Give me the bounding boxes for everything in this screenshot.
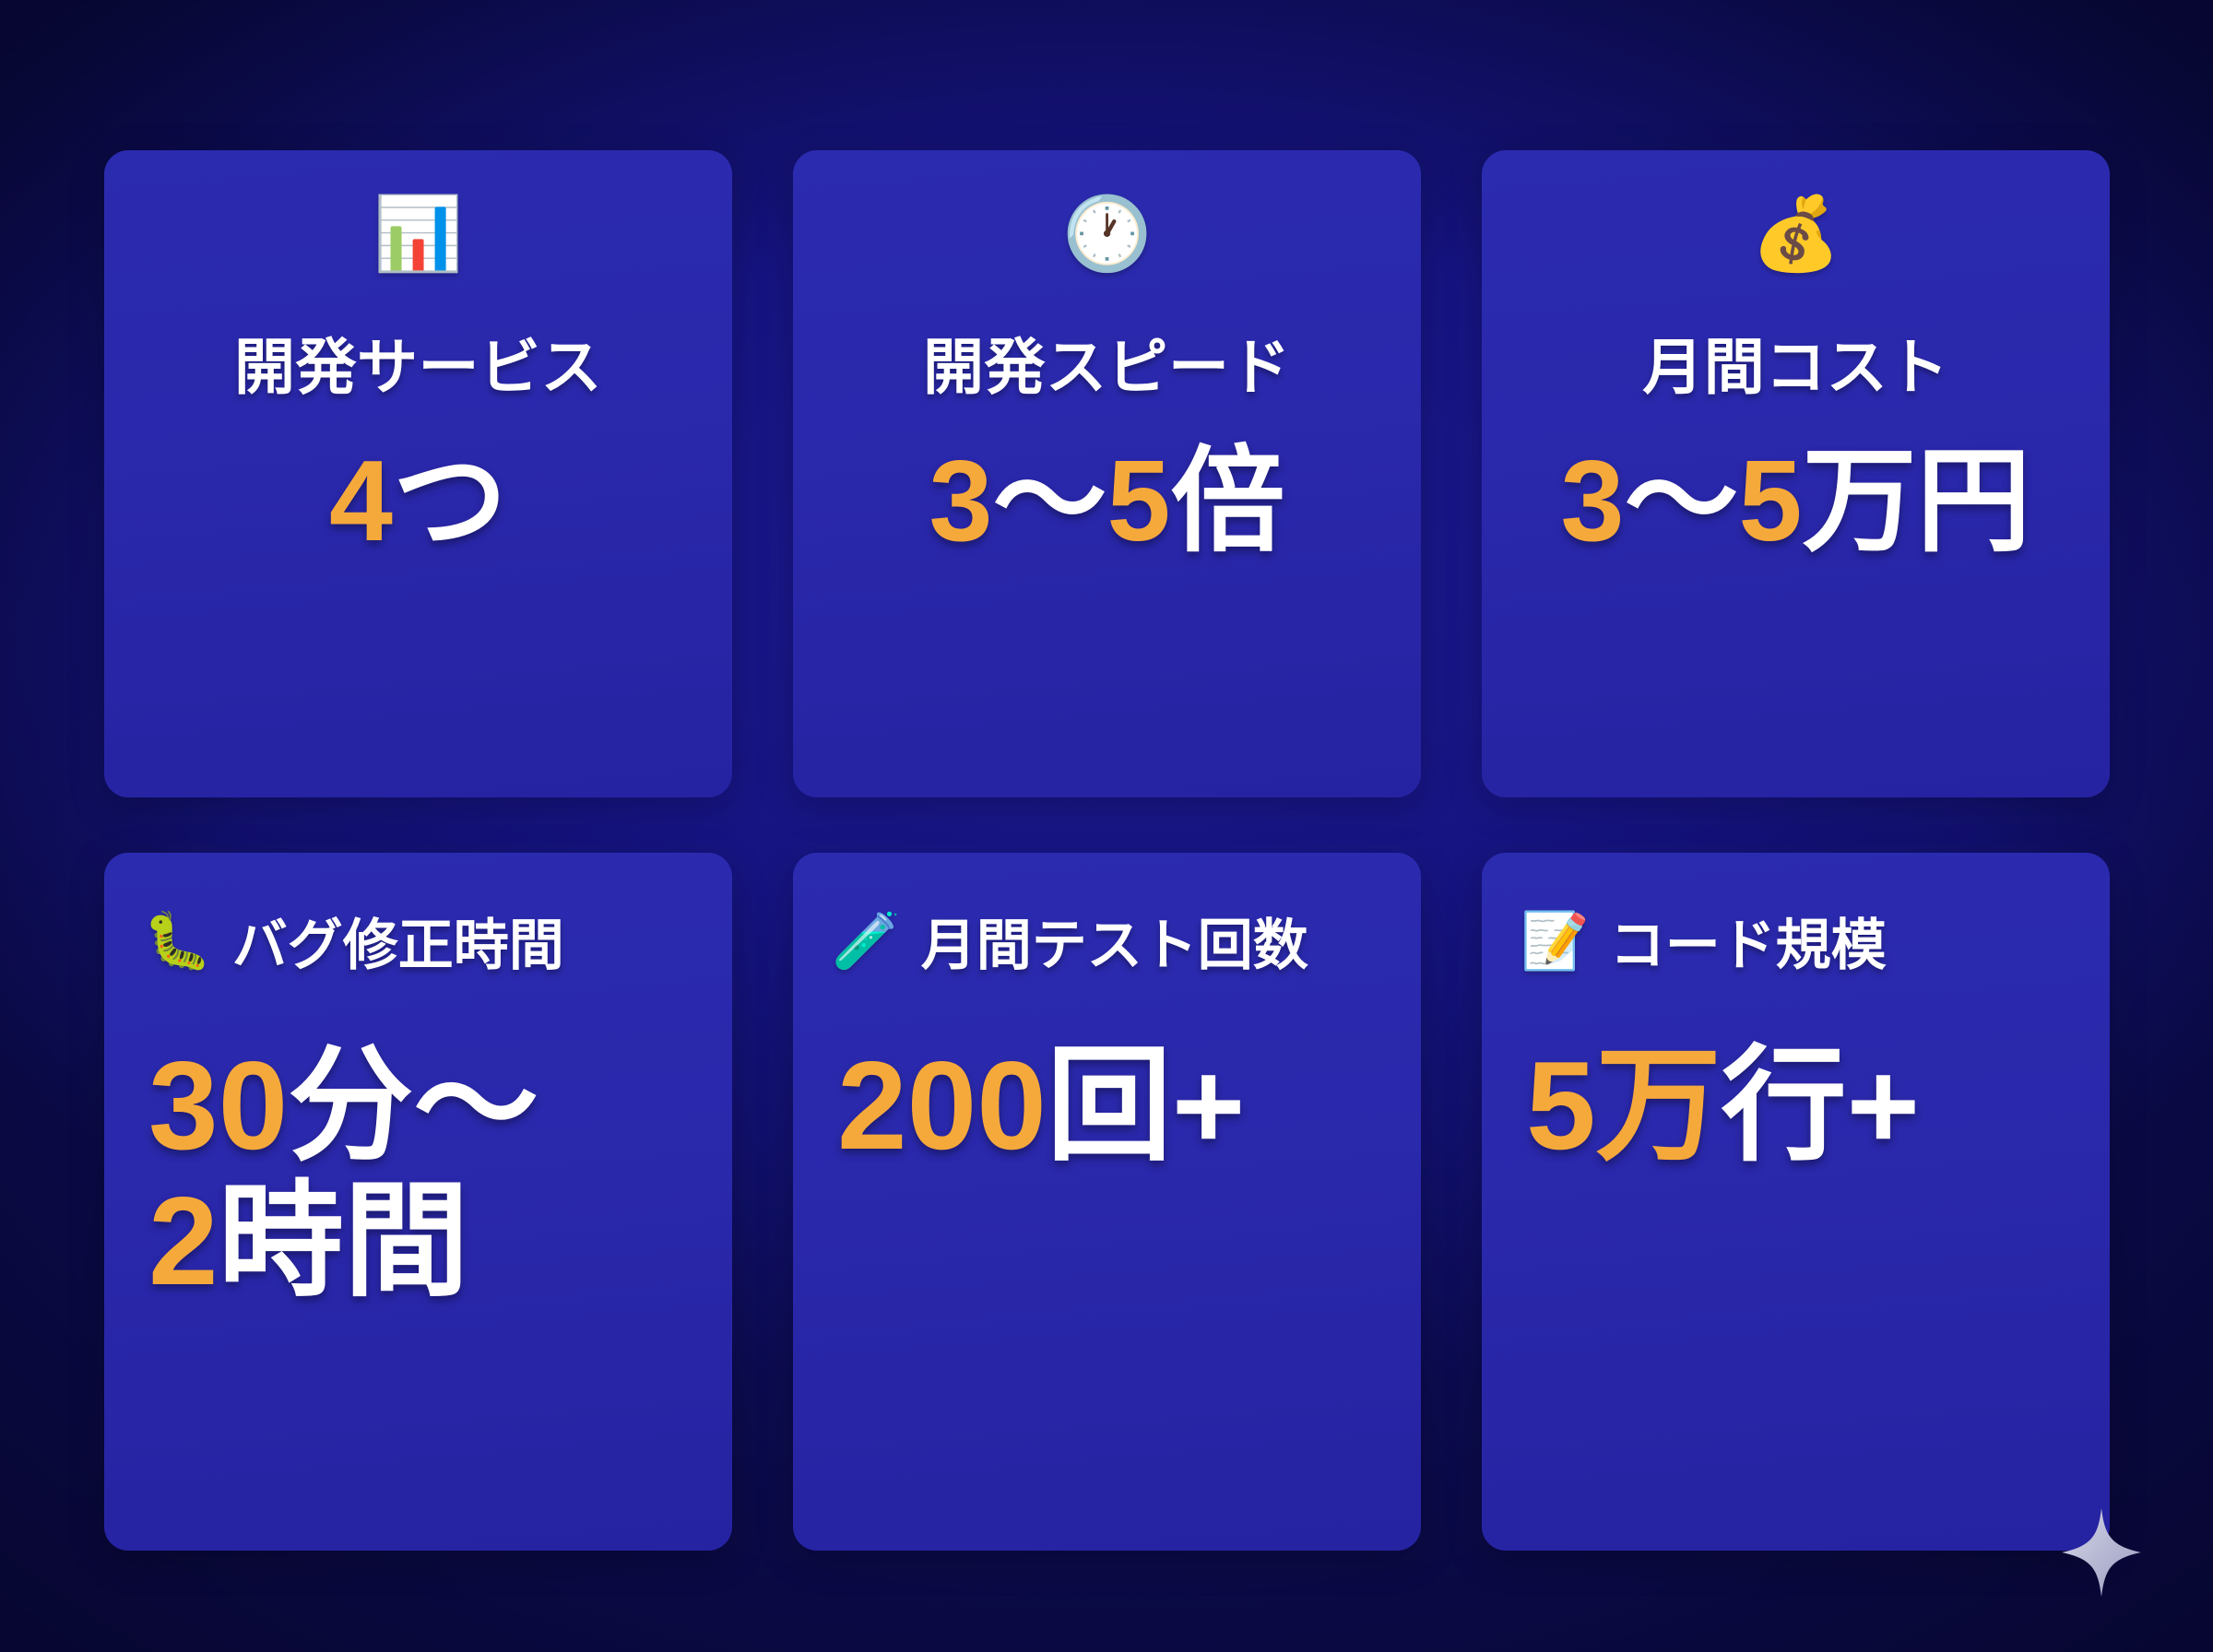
value-line: 2時間 bbox=[148, 1174, 538, 1309]
stat-card-value: 3〜5倍 bbox=[929, 442, 1285, 562]
value-accent-part: 4 bbox=[329, 438, 393, 565]
test-tube-emoji: 🧪 bbox=[832, 914, 901, 969]
value-plain-part: 回+ bbox=[1047, 1035, 1245, 1175]
stat-card-label: 月間コスト bbox=[1642, 318, 1949, 407]
stat-card-value: 30分〜2時間 bbox=[104, 1038, 538, 1309]
value-accent-part: 3 bbox=[929, 438, 993, 565]
memo-emoji: 📝 bbox=[1521, 914, 1590, 969]
value-accent-part: 30 bbox=[148, 1035, 288, 1175]
slide-stage: 📊 開発サービス 4つ 🕐 開発スピード 3〜5倍 💰 月間コスト 3〜5万円 … bbox=[0, 0, 2213, 1652]
stat-card-header: 🐛 バグ修正時間 bbox=[104, 901, 564, 981]
stat-card-value: 5万行+ bbox=[1482, 1038, 1920, 1174]
stats-card-grid: 📊 開発サービス 4つ 🕐 開発スピード 3〜5倍 💰 月間コスト 3〜5万円 … bbox=[104, 150, 2110, 1551]
bar-chart-emoji: 📊 bbox=[373, 191, 463, 276]
stat-card-value: 200回+ bbox=[793, 1038, 1245, 1174]
stat-card-bug-fix-time[interactable]: 🐛 バグ修正時間 30分〜2時間 bbox=[104, 853, 732, 1551]
sparkle-icon bbox=[2062, 1508, 2141, 1597]
money-bag-emoji: 💰 bbox=[1751, 191, 1840, 276]
stat-card-monthly-test-runs[interactable]: 🧪 月間テスト回数 200回+ bbox=[793, 853, 1421, 1551]
value-accent-part: 5 bbox=[1107, 438, 1171, 565]
stat-card-dev-speed[interactable]: 🕐 開発スピード 3〜5倍 bbox=[793, 150, 1421, 797]
stat-card-label: 月間テスト回数 bbox=[921, 901, 1308, 981]
stat-card-header: 🧪 月間テスト回数 bbox=[793, 901, 1308, 981]
stat-card-monthly-cost[interactable]: 💰 月間コスト 3〜5万円 bbox=[1482, 150, 2110, 797]
stat-card-label: 開発スピード bbox=[923, 318, 1291, 407]
value-plain-part: 行+ bbox=[1722, 1035, 1920, 1175]
clock-emoji: 🕐 bbox=[1062, 191, 1152, 276]
stat-card-value: 4つ bbox=[329, 442, 507, 562]
stat-card-label: コード規模 bbox=[1610, 901, 1887, 981]
stat-card-value: 3〜5万円 bbox=[1561, 442, 2031, 562]
stat-card-label: バグ修正時間 bbox=[232, 901, 564, 981]
stat-card-label: 開発サービス bbox=[234, 318, 602, 407]
value-accent-part: 5 bbox=[1739, 438, 1803, 565]
stat-card-header: 📝 コード規模 bbox=[1482, 901, 1887, 981]
value-line: 30分〜 bbox=[148, 1038, 538, 1174]
bug-emoji: 🐛 bbox=[143, 914, 212, 969]
value-plain-part: 〜 bbox=[1624, 438, 1738, 565]
stat-card-code-size[interactable]: 📝 コード規模 5万行+ bbox=[1482, 853, 2110, 1551]
value-plain-part: 〜 bbox=[992, 438, 1106, 565]
value-accent-part: 5万 bbox=[1526, 1035, 1722, 1175]
value-plain-part: 万円 bbox=[1802, 438, 2030, 565]
value-plain-part: 倍 bbox=[1170, 438, 1284, 565]
value-accent-part: 3 bbox=[1561, 438, 1625, 565]
value-accent-part: 200 bbox=[837, 1035, 1047, 1175]
value-accent-part: 2 bbox=[148, 1171, 219, 1311]
value-plain-part: 分〜 bbox=[288, 1035, 538, 1175]
value-line: 200回+ bbox=[837, 1038, 1245, 1174]
value-line: 5万行+ bbox=[1526, 1038, 1920, 1174]
value-plain-part: 時間 bbox=[219, 1171, 469, 1311]
value-plain-part: つ bbox=[393, 438, 507, 565]
stat-card-dev-services[interactable]: 📊 開発サービス 4つ bbox=[104, 150, 732, 797]
